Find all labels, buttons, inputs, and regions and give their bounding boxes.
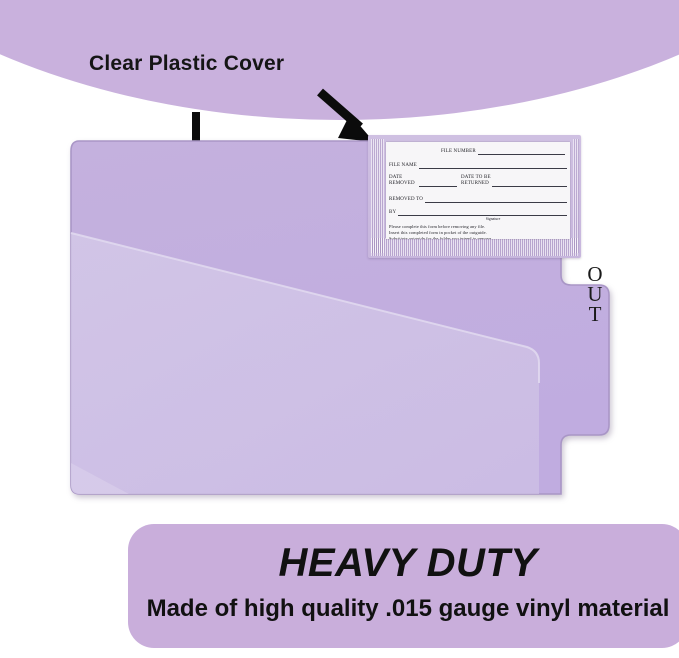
clear-plastic-cover-label: Clear Plastic Cover — [89, 52, 284, 76]
out-letter-u: U — [583, 284, 607, 304]
removed-to-rule — [425, 196, 567, 203]
instruction-line-3: Substitute outguide for the folder you i… — [389, 236, 567, 239]
pocket-ribbed-edge-right — [573, 139, 579, 253]
signature-caption: Signature — [389, 217, 567, 222]
form-row-file-number: FILE NUMBER — [389, 144, 567, 155]
file-number-label: FILE NUMBER — [441, 149, 476, 155]
heavy-duty-banner: HEAVY DUTY Made of high quality .015 gau… — [128, 524, 679, 648]
out-tab-label: O U T — [583, 264, 607, 324]
date-returned-label: DATE TO BE RETURNED — [461, 175, 491, 187]
out-letter-o: O — [583, 264, 607, 284]
pocket-ribbed-edge-bottom — [371, 238, 578, 256]
date-returned-rule — [492, 180, 567, 187]
out-letter-t: T — [583, 304, 607, 324]
pocket-ribbed-edge-left — [371, 139, 384, 253]
removed-to-label: REMOVED TO — [389, 197, 423, 203]
outguide-pocket: FILE NUMBER FILE NAME DATE REMOVED DATE … — [368, 135, 581, 258]
file-number-rule — [478, 148, 565, 155]
form-row-dates: DATE REMOVED DATE TO BE RETURNED — [389, 175, 567, 187]
file-name-rule — [419, 162, 567, 169]
form-row-removed-to: REMOVED TO — [389, 196, 567, 203]
banner-subtitle: Made of high quality .015 gauge vinyl ma… — [142, 594, 674, 624]
date-removed-rule — [419, 180, 457, 187]
product-image-canvas: Clear Plastic Cover — [0, 0, 679, 658]
date-removed-label: DATE REMOVED — [389, 175, 419, 187]
charge-out-form: FILE NUMBER FILE NAME DATE REMOVED DATE … — [386, 142, 570, 239]
date-removed-line2: REMOVED — [389, 181, 419, 187]
file-name-label: FILE NAME — [389, 163, 417, 169]
by-rule — [398, 209, 567, 216]
date-returned-line2: RETURNED — [461, 181, 491, 187]
form-row-file-name: FILE NAME — [389, 162, 567, 169]
by-label: BY — [389, 210, 396, 216]
form-instructions: Please complete this form before removin… — [389, 224, 567, 240]
banner-title: HEAVY DUTY — [142, 538, 674, 588]
form-row-by: BY — [389, 209, 567, 216]
